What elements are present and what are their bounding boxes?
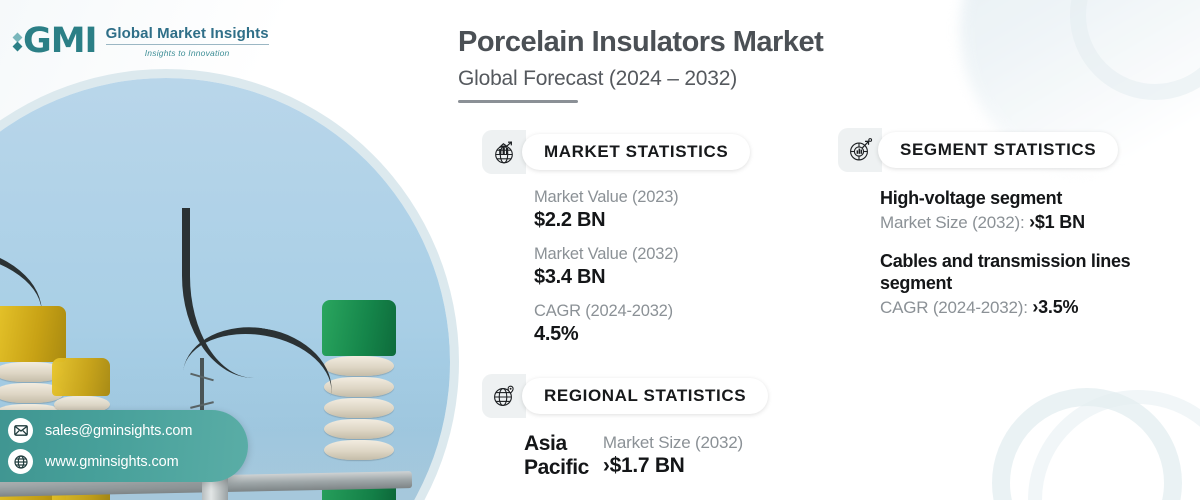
envelope-icon: [8, 418, 33, 443]
regional-statistics-header: REGIONAL STATISTICS: [482, 374, 768, 418]
market-stat-item: Market Value (2032) $3.4 BN: [482, 245, 750, 289]
stat-label: Market Value (2023): [534, 188, 750, 207]
insulator-cap: [0, 306, 66, 362]
regional-stat-item: AsiaPacific Market Size (2032) ›$1.7 BN: [482, 432, 768, 479]
segment-metric-label: CAGR (2024-2032):: [880, 298, 1032, 317]
logo-wordmark: Global Market Insights Insights to Innov…: [106, 25, 269, 58]
regional-statistics-panel: REGIONAL STATISTICS AsiaPacific Market S…: [482, 374, 768, 479]
donut-chart-arrow-icon: [838, 128, 882, 172]
brand-logo[interactable]: GMI Global Market Insights Insights to I…: [14, 24, 269, 59]
regional-statistics-heading: REGIONAL STATISTICS: [544, 386, 746, 406]
segment-title: Cables and transmission lines segment: [880, 251, 1150, 295]
title-underline: [458, 100, 578, 103]
logo-initials: GMI: [23, 24, 97, 59]
segment-stat-item: Cables and transmission lines segment CA…: [838, 251, 1150, 318]
contact-email: sales@gminsights.com: [45, 423, 192, 439]
infographic-canvas: GMI Global Market Insights Insights to I…: [0, 0, 1200, 500]
segment-title: High-voltage segment: [880, 188, 1150, 210]
logo-diamonds-icon: [14, 34, 21, 50]
segment-metric-value: ›$1 BN: [1029, 212, 1085, 232]
market-statistics-header: MARKET STATISTICS: [482, 130, 750, 174]
regional-statistics-title-pill: REGIONAL STATISTICS: [522, 378, 768, 414]
market-stat-item: CAGR (2024-2032) 4.5%: [482, 302, 750, 346]
insulator-cap: [322, 300, 396, 356]
decor-bottomright-ring-outer: [1028, 390, 1200, 500]
segment-statistics-header: SEGMENT STATISTICS: [838, 128, 1150, 172]
segment-stat-item: High-voltage segment Market Size (2032):…: [838, 188, 1150, 233]
segment-metric: CAGR (2024-2032): ›3.5%: [880, 297, 1150, 318]
stat-value: $3.4 BN: [534, 266, 750, 289]
header: Porcelain Insulators Market Global Forec…: [458, 26, 823, 103]
decor-topright-ring: [1070, 0, 1200, 100]
contact-website: www.gminsights.com: [45, 454, 179, 470]
logo-mark: GMI: [14, 24, 97, 59]
stat-label: Market Value (2032): [534, 245, 750, 264]
insulator-sheds: [322, 356, 396, 476]
globe-icon: [8, 449, 33, 474]
stat-value: $2.2 BN: [534, 209, 750, 232]
market-stat-item: Market Value (2023) $2.2 BN: [482, 188, 750, 232]
market-statistics-panel: MARKET STATISTICS Market Value (2023) $2…: [482, 130, 750, 346]
globe-pin-icon: [482, 374, 526, 418]
market-statistics-title-pill: MARKET STATISTICS: [522, 134, 750, 170]
region-metric-value: ›$1.7 BN: [603, 454, 743, 478]
brand-tagline: Insights to Innovation: [106, 45, 269, 58]
segment-statistics-heading: SEGMENT STATISTICS: [900, 140, 1096, 160]
region-metric-label: Market Size (2032): [603, 433, 743, 453]
brand-name: Global Market Insights: [106, 25, 269, 45]
contact-website-row[interactable]: www.gminsights.com: [8, 449, 248, 474]
market-statistics-heading: MARKET STATISTICS: [544, 142, 728, 162]
segment-metric-label: Market Size (2032):: [880, 213, 1029, 232]
segment-metric: Market Size (2032): ›$1 BN: [880, 212, 1150, 233]
insulator-green: [322, 300, 396, 500]
decor-bottomright-ring: [992, 388, 1182, 500]
page-title: Porcelain Insulators Market: [458, 26, 823, 59]
region-metric: Market Size (2032) ›$1.7 BN: [603, 433, 743, 478]
contact-email-row[interactable]: sales@gminsights.com: [8, 418, 248, 443]
segment-statistics-title-pill: SEGMENT STATISTICS: [878, 132, 1118, 168]
stat-label: CAGR (2024-2032): [534, 302, 750, 321]
region-name: AsiaPacific: [524, 432, 589, 479]
segment-metric-value: ›3.5%: [1032, 297, 1078, 317]
page-subtitle: Global Forecast (2024 – 2032): [458, 67, 823, 91]
stat-value: 4.5%: [534, 323, 750, 346]
segment-statistics-panel: SEGMENT STATISTICS High-voltage segment …: [838, 128, 1150, 318]
contact-badge: sales@gminsights.com www.gminsights.com: [0, 410, 248, 482]
globe-bar-chart-icon: [482, 130, 526, 174]
